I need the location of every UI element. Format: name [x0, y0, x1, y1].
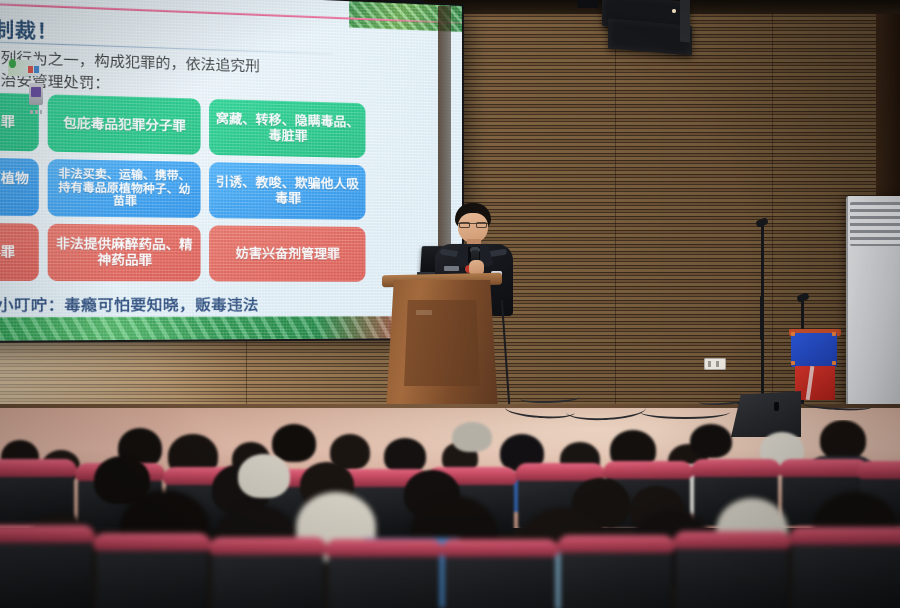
ac-label-chip: [34, 66, 39, 73]
auditorium-seat[interactable]: [328, 546, 440, 608]
auditorium-seat[interactable]: [96, 540, 208, 608]
crime-card: 妨害兴奋剂管理罪: [209, 225, 365, 281]
uniform-name-tag: [444, 266, 459, 271]
crime-card: 引诱、教唆、欺骗他人吸毒罪: [209, 162, 365, 220]
slide-top-rule: [0, 0, 462, 24]
audience-head: [452, 422, 492, 452]
wall-seam: [772, 0, 773, 408]
crime-card-grid: 制 非法持有毒品罪 包庇毒品犯罪分子罪 窝藏、转移、隐瞒毒品、毒脏罪 制罪 非法…: [0, 88, 424, 282]
ceiling-camera-icon: [577, 0, 599, 8]
monitor-port-icon: [774, 402, 779, 411]
stage-cable: [640, 405, 730, 419]
crime-card: 非法种植毒品原植物罪: [0, 156, 39, 216]
auditorium-seat[interactable]: [560, 542, 672, 608]
auditorium-scene: 毒会受到法律制裁！ 共和国禁毒法》有下列行为之一，构成犯罪的，依法追究刑 成犯罪…: [0, 0, 900, 608]
leaf-icon: [9, 59, 16, 68]
ac-control-buttons[interactable]: [30, 110, 42, 114]
equipment-case-red: [795, 366, 835, 400]
auditorium-seat[interactable]: [212, 544, 324, 608]
speaker-rigging: [680, 0, 690, 43]
audience-head: [238, 454, 290, 498]
wall-pillar-right: [876, 0, 900, 196]
audience-area: [0, 420, 900, 608]
crime-card: 非法买卖、运输、携带、持有毒品原植物种子、幼苗罪: [48, 159, 201, 218]
equipment-case-blue: [791, 333, 837, 367]
auditorium-seat[interactable]: [792, 534, 900, 608]
auditorium-seat[interactable]: [444, 546, 556, 608]
slide-title: 毒会受到法律制裁！: [0, 8, 58, 44]
speaker-indicator-led: [672, 9, 676, 13]
mic-stand-arm: [760, 296, 762, 340]
audience-head: [820, 420, 866, 460]
air-conditioner-unit[interactable]: [846, 196, 900, 432]
auditorium-seat[interactable]: [0, 532, 92, 608]
projection-screen: 毒会受到法律制裁！ 共和国禁毒法》有下列行为之一，构成犯罪的，依法追究刑 成犯罪…: [0, 0, 462, 341]
ac-display-readout: [31, 87, 41, 97]
audience-head: [272, 424, 316, 462]
audience-head: [690, 424, 732, 458]
crime-card: 包庇毒品犯罪分子罪: [48, 94, 201, 154]
ac-label-chip: [28, 66, 33, 73]
auditorium-seat[interactable]: [676, 538, 788, 608]
lectern-plate: [416, 310, 432, 315]
ac-vent-grille: [850, 202, 900, 246]
wall-seam: [615, 0, 616, 408]
crime-card: 容留他人吸毒罪: [0, 222, 39, 281]
crime-card: 窝藏、转移、隐瞒毒品、毒脏罪: [209, 99, 365, 158]
crime-card: 非法提供麻醉药品、精神药品罪: [48, 224, 201, 282]
slide-tip-text: 小叮咛：毒瘾可怕要知晓，贩毒违法: [0, 293, 259, 315]
